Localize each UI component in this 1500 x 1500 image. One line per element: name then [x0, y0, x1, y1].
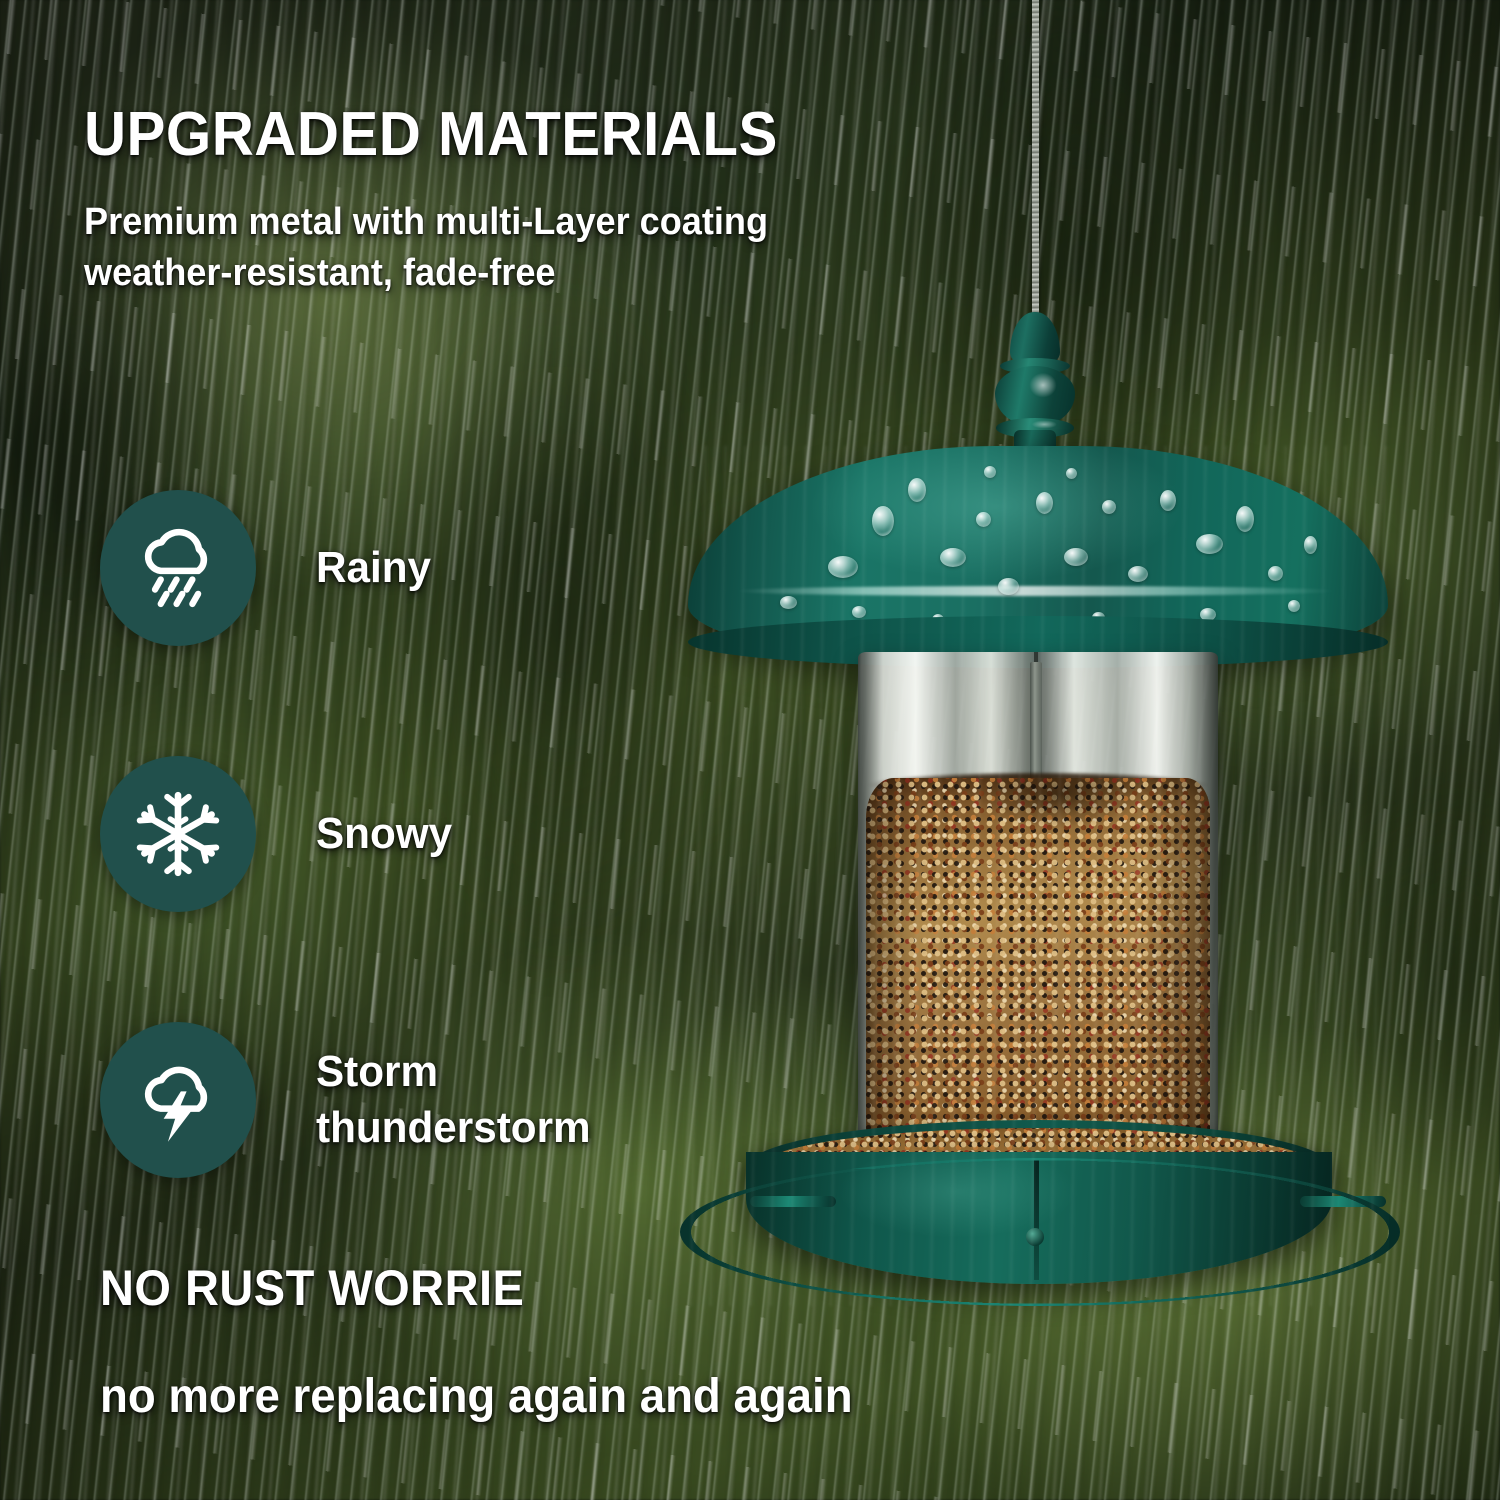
roof-highlight-line	[736, 586, 1336, 596]
water-droplet	[1128, 566, 1148, 582]
water-droplet	[998, 578, 1019, 595]
water-droplet	[1160, 490, 1176, 511]
water-droplet	[780, 596, 797, 609]
product-feature-image: UPGRADED MATERIALS Premium metal with mu…	[0, 0, 1500, 1500]
water-droplet	[1196, 534, 1223, 554]
water-droplet	[852, 606, 866, 618]
subtitle-line-2: weather-resistant, fade-free	[84, 248, 939, 299]
water-droplet	[828, 556, 858, 578]
bottom-headline: NO RUST WORRIE	[100, 1259, 524, 1317]
water-droplet	[872, 506, 894, 536]
feature-label-storm: Storm thunderstorm	[316, 1044, 591, 1157]
feature-item-snowy: Snowy	[100, 738, 720, 930]
perch-ring	[680, 1158, 1400, 1306]
feature-badge-snowy	[100, 756, 256, 912]
water-droplet	[1236, 506, 1254, 532]
feature-item-storm: Storm thunderstorm	[100, 1004, 720, 1196]
water-droplet	[1036, 492, 1053, 514]
water-droplet	[1064, 548, 1088, 566]
water-droplet	[940, 548, 966, 567]
subtitle-line-1: Premium metal with multi-Layer coating	[84, 197, 939, 248]
finial-bulb	[995, 366, 1075, 426]
feature-item-rainy: Rainy	[100, 472, 720, 664]
page-subtitle: Premium metal with multi-Layer coating w…	[84, 197, 939, 298]
weather-feature-list: Rainy	[100, 472, 720, 1196]
feature-label-rainy: Rainy	[316, 540, 431, 596]
water-droplet	[1304, 536, 1317, 554]
feature-badge-rainy	[100, 490, 256, 646]
hanging-cable-icon	[1032, 0, 1039, 326]
feature-label-snowy: Snowy	[316, 806, 452, 862]
water-droplet	[976, 512, 991, 527]
rain-cloud-icon	[132, 522, 224, 614]
page-title: UPGRADED MATERIALS	[84, 103, 892, 166]
water-droplet	[908, 478, 926, 502]
feature-badge-storm	[100, 1022, 256, 1178]
water-droplet	[1102, 500, 1116, 514]
water-droplet	[1268, 566, 1283, 581]
water-droplet	[1066, 468, 1077, 479]
snowflake-icon	[132, 788, 224, 880]
thunderstorm-icon	[132, 1054, 224, 1146]
bottom-subtitle: no more replacing again and again	[100, 1369, 853, 1424]
water-droplet	[1288, 600, 1300, 612]
water-droplet	[984, 466, 996, 478]
